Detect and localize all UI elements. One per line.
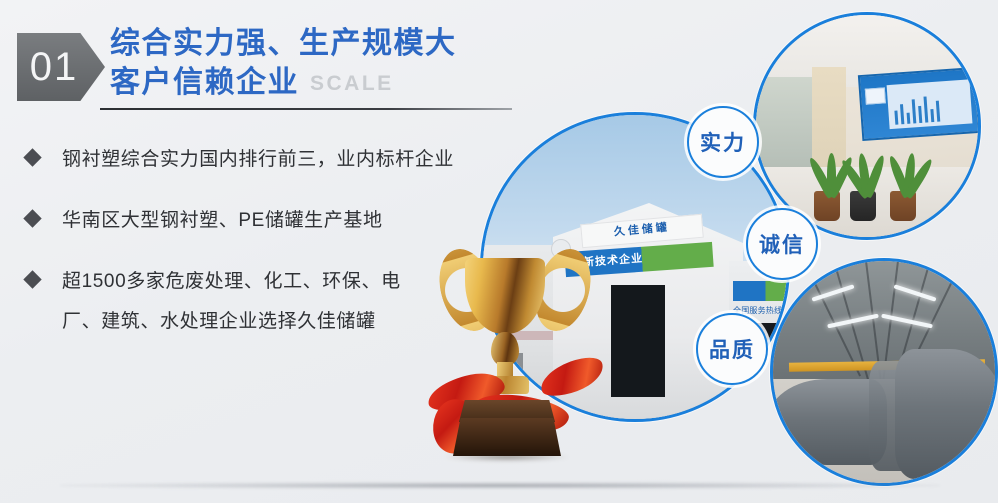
badge-strength[interactable]: 实力 — [687, 106, 759, 178]
section-number-label: 01 — [30, 47, 93, 87]
photo-cluster: 久佳储罐 高新技术企业 全国服务热线：4008255586 — [470, 0, 998, 503]
title-line-2-text: 客户信赖企业 — [110, 66, 299, 99]
bottom-shadow — [60, 482, 940, 489]
list-item-label: 华南区大型钢衬塑、PE储罐生产基地 — [62, 201, 500, 241]
office-lobby-photo — [753, 12, 981, 240]
potted-plant — [890, 191, 916, 221]
title-line-1: 综合实力强、生产规模大 — [110, 24, 530, 63]
section-number-badge: 01 — [17, 33, 105, 101]
badge-quality-label: 品质 — [709, 334, 755, 364]
trophy-stem — [491, 332, 519, 366]
golden-trophy-icon — [415, 240, 595, 465]
badge-strength-label: 实力 — [700, 127, 746, 157]
list-item-label: 钢衬塑综合实力国内排行前三，业内标杆企业 — [62, 140, 500, 180]
badge-integrity-label: 诚信 — [759, 229, 805, 259]
information-board — [858, 67, 980, 141]
potted-plant — [814, 191, 840, 221]
diamond-marker-icon — [23, 270, 41, 288]
workshop-tanks-photo — [770, 258, 998, 486]
potted-plant — [850, 191, 876, 221]
trophy-base — [453, 418, 561, 456]
title-suffix-label: SCALE — [310, 72, 394, 95]
storage-tank — [895, 349, 998, 479]
badge-quality[interactable]: 品质 — [696, 313, 768, 385]
board-content — [887, 79, 973, 129]
badge-integrity[interactable]: 诚信 — [746, 208, 818, 280]
list-item: 华南区大型钢衬塑、PE储罐生产基地 — [0, 201, 500, 241]
title-line-1-text: 综合实力强、生产规模大 — [110, 27, 457, 60]
promo-banner: 01 综合实力强、生产规模大 客户信赖企业SCALE 钢衬塑综合实力国内排行前三… — [0, 0, 998, 503]
diamond-marker-icon — [23, 148, 41, 166]
title-line-2: 客户信赖企业SCALE — [110, 63, 530, 103]
trophy-shadow — [445, 453, 569, 461]
board-logo-icon — [865, 87, 886, 104]
main-door — [611, 285, 665, 397]
diamond-marker-icon — [23, 209, 41, 227]
page-title: 综合实力强、生产规模大 客户信赖企业SCALE — [110, 24, 530, 103]
title-divider — [100, 108, 512, 110]
list-item: 钢衬塑综合实力国内排行前三，业内标杆企业 — [0, 140, 500, 180]
